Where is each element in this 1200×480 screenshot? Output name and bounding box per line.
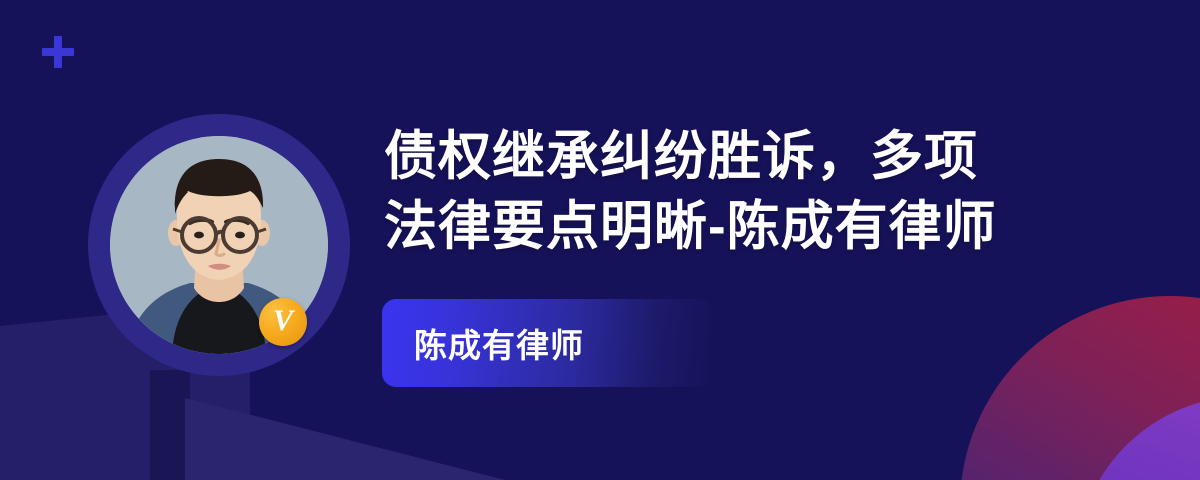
decorative-bar <box>150 370 190 480</box>
verified-badge-icon: V <box>259 298 307 346</box>
promo-banner: V 债权继承纠纷胜诉，多项 法律要点明晰-陈成有律师 陈成有律师 <box>0 0 1200 480</box>
page-title: 债权继承纠纷胜诉，多项 法律要点明晰-陈成有律师 <box>384 122 1184 262</box>
plus-icon <box>42 36 74 68</box>
lawyer-name-button[interactable]: 陈成有律师 <box>382 299 712 387</box>
verified-badge-label: V <box>273 306 293 336</box>
